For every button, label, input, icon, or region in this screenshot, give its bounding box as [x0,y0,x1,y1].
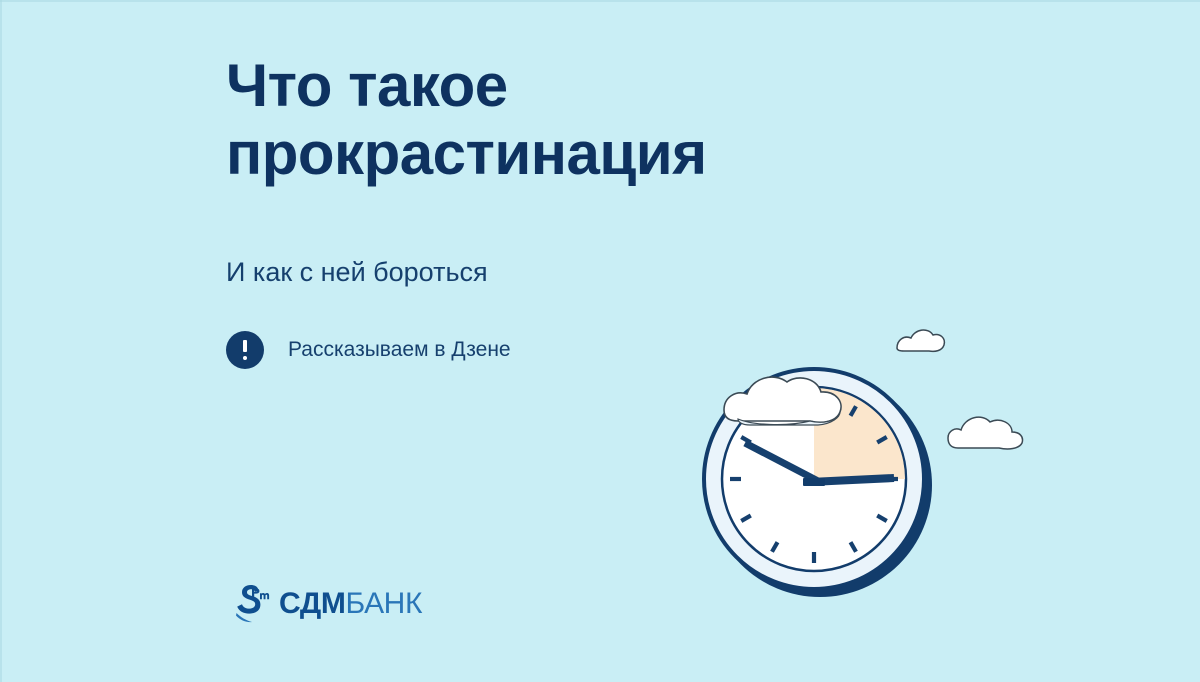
sdm-s-monogram-icon [231,584,275,624]
badge-label: Рассказываем в Дзене [288,338,511,362]
cloud-small-top [897,330,944,351]
clock-with-clouds-illustration [690,318,1090,618]
logo-wordmark: СДМБАНК [279,589,422,619]
sdm-bank-logo: СДМБАНК [231,582,422,626]
logo-word-bold: СДМ [279,587,345,620]
exclamation-icon [226,331,264,369]
cloud-medium-right [948,417,1023,449]
page-title: Что такое прокрастинация [226,52,866,189]
logo-word-light: БАНК [345,587,422,620]
canvas-left-edge [0,0,2,682]
canvas-top-edge [0,0,1200,2]
page-subtitle: И как с ней бороться [226,256,866,288]
clock-center-cap [803,478,825,486]
